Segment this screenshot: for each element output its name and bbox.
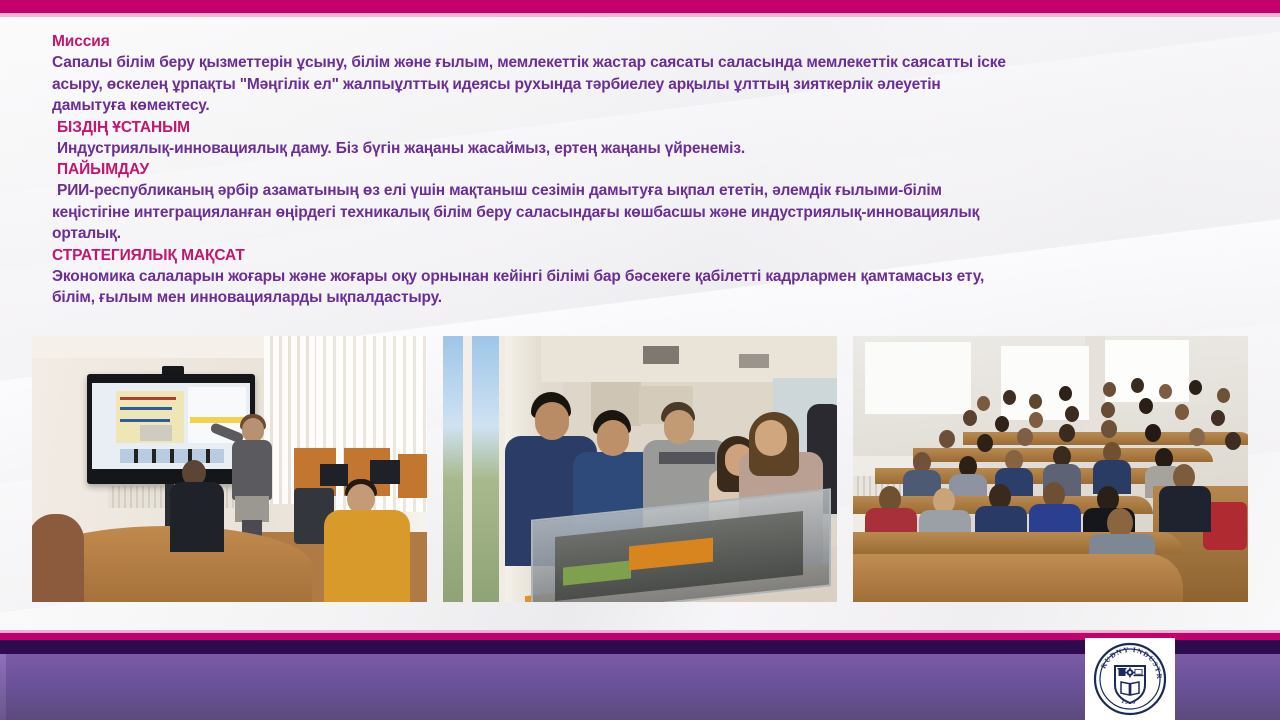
text-content-block: Миссия Сапалы білім беру қызметтерін ұсы… xyxy=(52,31,1242,309)
top-accent-bar-light xyxy=(0,13,1280,17)
vision-line-3: орталық. xyxy=(52,223,1242,245)
monitor-1 xyxy=(320,464,348,486)
photo-row xyxy=(32,336,1248,602)
student-5-head xyxy=(755,420,787,456)
institute-logo: RUDNY INDUSTRIALYQ INSTITUTY 1959 xyxy=(1085,638,1175,720)
window-frame-1 xyxy=(463,336,472,602)
whiteboard-highlight xyxy=(190,417,244,423)
instructor-head xyxy=(242,418,264,442)
top-accent-bar xyxy=(0,0,1280,13)
instructor-body xyxy=(232,440,272,500)
whiteboard-thumbnails xyxy=(120,449,224,463)
footer-left-edge xyxy=(0,654,6,720)
computer-booth-3 xyxy=(398,454,427,498)
vision-heading: ПАЙЫМДАУ xyxy=(52,159,1242,180)
mission-heading: Миссия xyxy=(52,31,1242,52)
lecture-window-3 xyxy=(1105,340,1189,402)
goal-line-1: Экономика салаларын жоғары және жоғары о… xyxy=(52,266,1242,288)
photo-lecture-hall xyxy=(853,336,1248,602)
lecture-window-1 xyxy=(865,342,971,414)
student-2-head xyxy=(597,420,629,456)
photo-classroom-whiteboard xyxy=(32,336,427,602)
student-1-head xyxy=(535,402,569,440)
whiteboard-text-line-1 xyxy=(120,407,172,410)
vision-line-1: РИИ-республиканың әрбір азаматының өз ел… xyxy=(52,180,1242,202)
rudny-industrial-institute-seal-icon: RUDNY INDUSTRIALYQ INSTITUTY 1959 xyxy=(1088,641,1172,717)
lecture-front-desk xyxy=(853,554,1183,602)
whiteboard-text-line-2 xyxy=(120,419,170,422)
student-3-head xyxy=(664,410,694,444)
whiteboard-image xyxy=(140,425,172,441)
whiteboard-display xyxy=(92,383,250,469)
mission-line-2: асыру, өскелең ұрпақты "Мәңгілік ел" жал… xyxy=(52,74,1242,96)
whiteboard-title-line xyxy=(120,397,176,400)
open-book-icon xyxy=(1121,682,1139,695)
student-3-shirt-graphic xyxy=(659,452,715,464)
goal-heading: СТРАТЕГИЯЛЫҚ МАҚСАТ xyxy=(52,245,1242,266)
student-3-head xyxy=(32,514,84,602)
mission-line-1: Сапалы білім беру қызметтерін ұсыну, біл… xyxy=(52,52,1242,74)
student-1-body xyxy=(170,482,224,552)
photo-students-display-case xyxy=(443,336,838,602)
monitor-2 xyxy=(370,460,400,484)
goal-line-2: білім, ғылым мен инновацияларды ықпалдас… xyxy=(52,287,1242,309)
stance-heading: БІЗДІҢ ҰСТАНЫМ xyxy=(52,117,1242,138)
laptop-icon xyxy=(1133,669,1143,676)
audience-torso xyxy=(1159,486,1211,532)
instructor-skirt xyxy=(235,496,269,522)
slide-canvas: Миссия Сапалы білім беру қызметтерін ұсы… xyxy=(0,0,1280,720)
stance-text: Индустриялық-инновациялық даму. Біз бүгі… xyxy=(52,138,1242,160)
ceiling-vent-1 xyxy=(643,346,679,364)
student-2-body xyxy=(324,510,410,602)
vision-line-2: кеңістігіне интеграцияланған өңірдегі те… xyxy=(52,202,1242,224)
ceiling-vent-2 xyxy=(739,354,769,368)
mission-line-3: дамытуға көмектесу. xyxy=(52,95,1242,117)
